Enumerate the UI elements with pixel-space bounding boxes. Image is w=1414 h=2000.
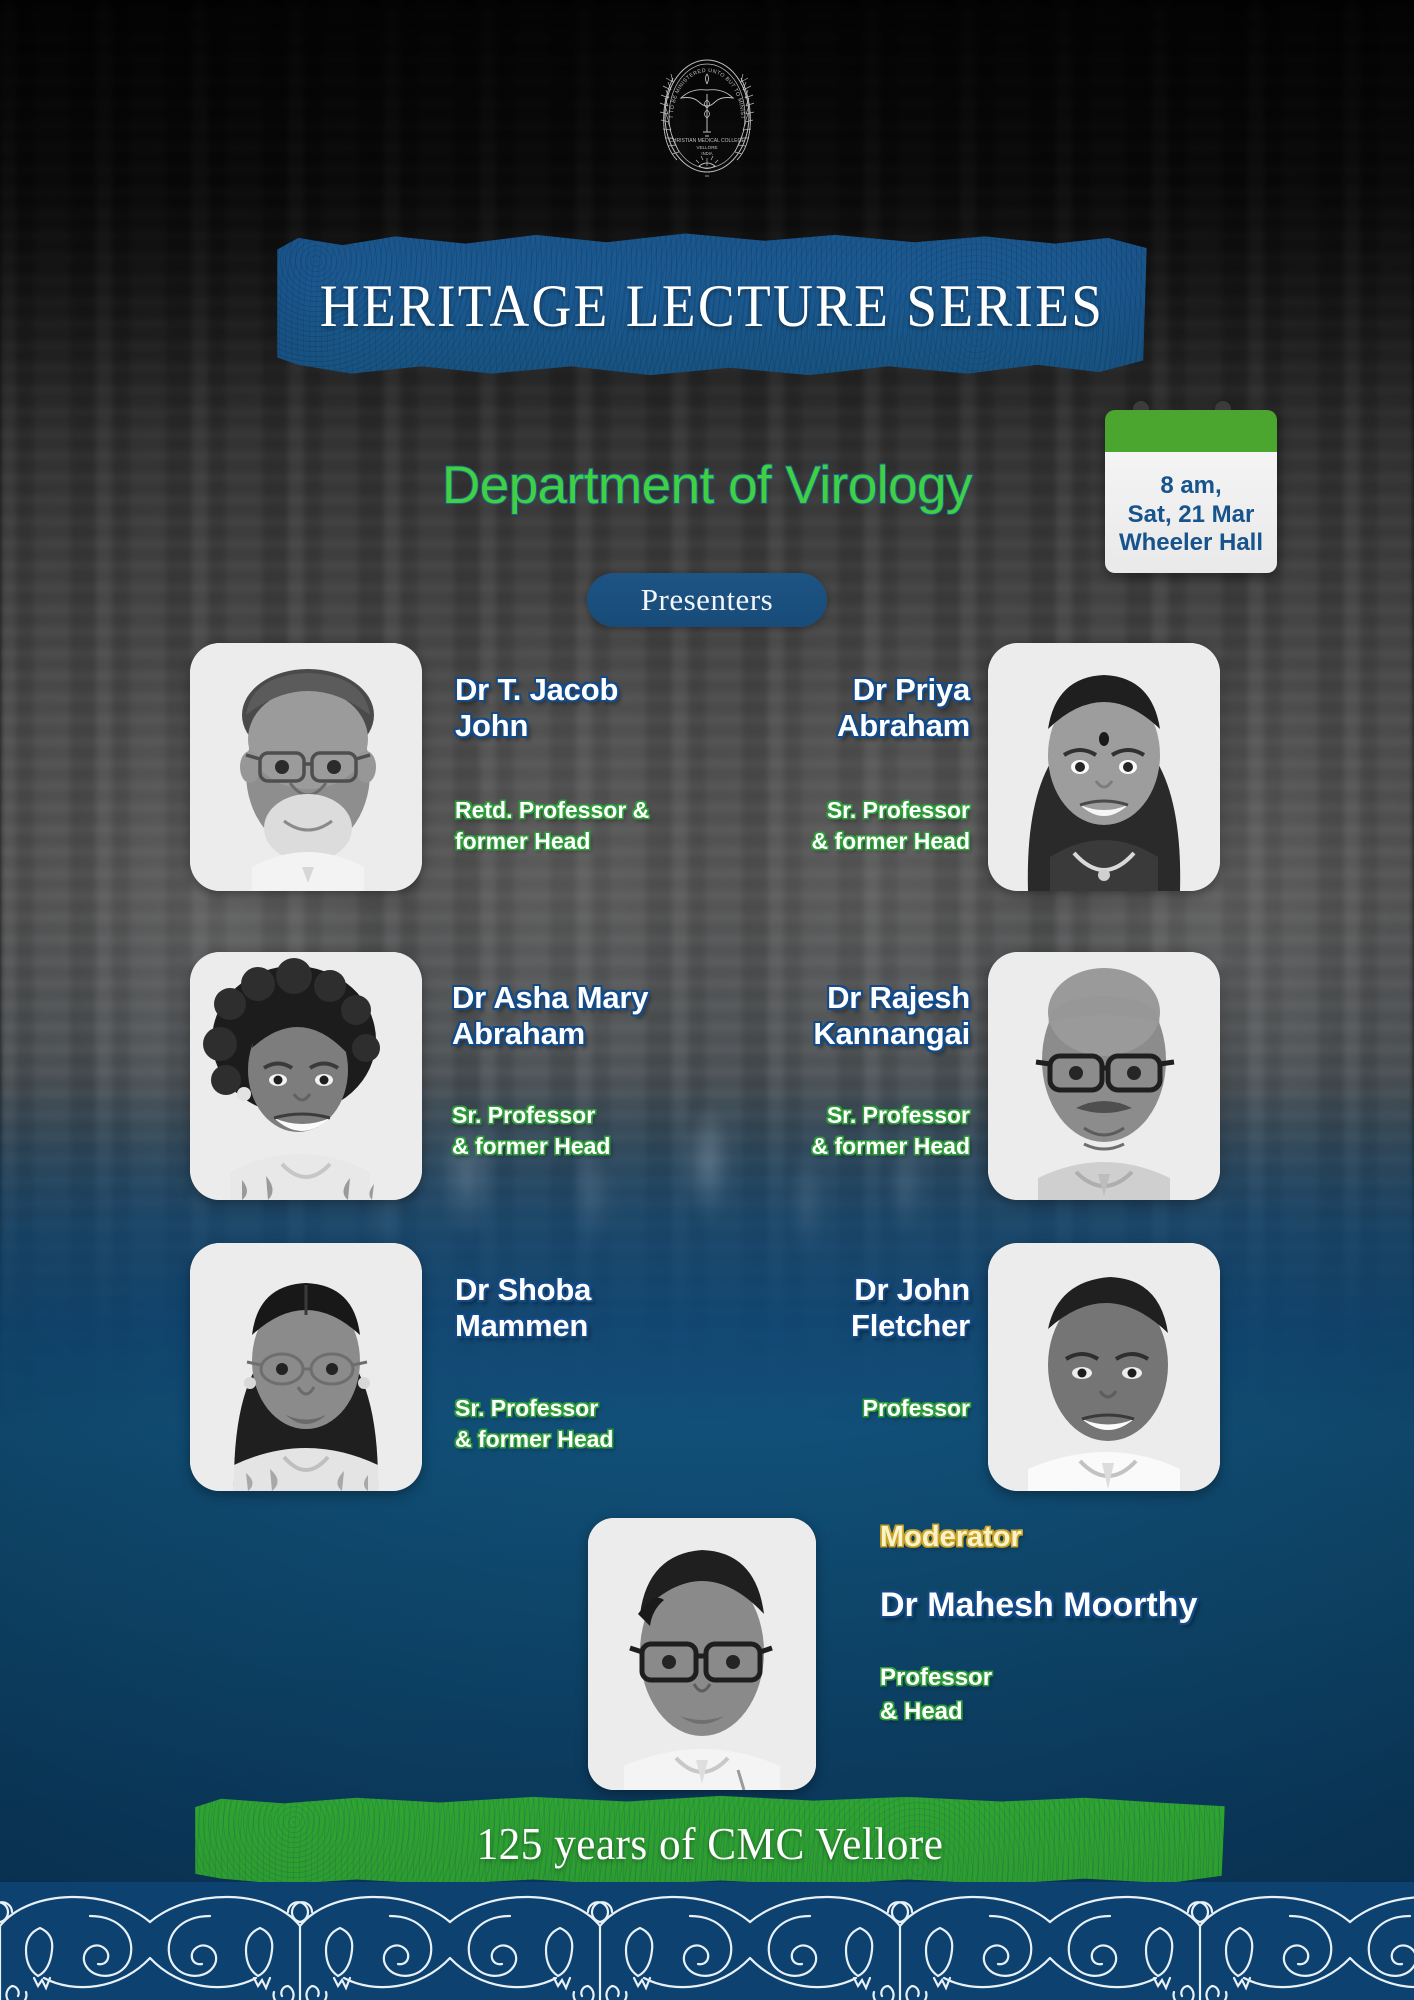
- presenter-name-line2: John: [455, 708, 528, 743]
- event-calendar-badge: 8 am, Sat, 21 Mar Wheeler Hall: [1105, 410, 1277, 573]
- presenter-name-3: Dr Rajesh Kannangai: [690, 980, 970, 1051]
- presenter-name-4: Dr Shoba Mammen: [455, 1272, 591, 1343]
- event-time: 8 am,: [1160, 473, 1221, 499]
- decorative-filigree-border: [0, 1882, 1414, 2000]
- presenter-name-2: Dr Asha Mary Abraham: [452, 980, 648, 1051]
- presenter-name-line1: Dr Rajesh: [827, 980, 970, 1015]
- presenter-role-4: Sr. Professor & former Head: [455, 1393, 613, 1455]
- moderator-name: Dr Mahesh Moorthy: [880, 1586, 1197, 1625]
- presenter-role-0: Retd. Professor & former Head: [455, 795, 649, 857]
- presenter-name-0: Dr T. Jacob John: [455, 672, 618, 743]
- presenter-role-line2: & former Head: [452, 1133, 610, 1159]
- presenter-role-1: Sr. Professor & former Head: [690, 795, 970, 857]
- portrait-mahesh-moorthy: [588, 1518, 816, 1790]
- calendar-header-icon: [1105, 410, 1277, 452]
- presenter-photo-5: [988, 1243, 1220, 1491]
- cmc-vellore-crest-icon: NOT TO BE MINISTERED UNTO BUT TO MINISTE…: [647, 48, 767, 188]
- presenter-photo-0: [190, 643, 422, 891]
- presenter-role-line2: & former Head: [812, 828, 970, 854]
- presenter-name-line2: Abraham: [452, 1016, 585, 1051]
- presenter-name-line2: Kannangai: [813, 1016, 970, 1051]
- presenter-role-5: Professor: [690, 1393, 970, 1424]
- presenter-role-line2: & former Head: [812, 1133, 970, 1159]
- presenter-photo-4: [190, 1243, 422, 1491]
- moderator-role-line2: & Head: [880, 1698, 963, 1725]
- moderator-label: Moderator: [880, 1521, 1022, 1554]
- presenter-photo-1: [988, 643, 1220, 891]
- portrait-john-fletcher: [988, 1243, 1220, 1491]
- crest-city: VELLORE: [696, 145, 717, 150]
- moderator-role: Professor & Head: [880, 1661, 992, 1728]
- poster-root: NOT TO BE MINISTERED UNTO BUT TO MINISTE…: [0, 0, 1414, 2000]
- presenter-role-line1: Retd. Professor &: [455, 797, 649, 823]
- presenter-name-line1: Dr John: [854, 1272, 970, 1307]
- crest-country: INDIA: [701, 151, 712, 156]
- presenter-name-line1: Dr T. Jacob: [455, 672, 618, 707]
- poster-title: HERITAGE LECTURE SERIES: [307, 236, 1117, 376]
- presenter-name-5: Dr John Fletcher: [690, 1272, 970, 1343]
- presenter-name-line2: Abraham: [837, 708, 970, 743]
- crest-motto-text: NOT TO BE MINISTERED UNTO BUT TO MINISTE…: [647, 48, 745, 119]
- presenter-name-line1: Dr Shoba: [455, 1272, 591, 1307]
- presenter-role-line2: former Head: [455, 828, 590, 854]
- portrait-t-jacob-john: [190, 643, 422, 891]
- moderator-role-line1: Professor: [880, 1664, 992, 1691]
- presenter-role-line1: Sr. Professor: [455, 1395, 598, 1421]
- portrait-asha-mary-abraham: [190, 952, 422, 1200]
- portrait-rajesh-kannangai: [988, 952, 1220, 1200]
- filigree-scrollwork-icon: [0, 1882, 1414, 2000]
- event-venue: Wheeler Hall: [1119, 530, 1263, 556]
- presenter-photo-2: [190, 952, 422, 1200]
- presenter-role-3: Sr. Professor & former Head: [690, 1100, 970, 1162]
- presenter-role-line1: Sr. Professor: [827, 797, 970, 823]
- presenters-label-pill: Presenters: [587, 573, 827, 627]
- presenter-role-line1: Professor: [863, 1395, 970, 1421]
- footer-tagline: 125 years of CMC Vellore: [221, 1800, 1199, 1886]
- moderator-photo: [588, 1518, 816, 1790]
- presenter-name-1: Dr Priya Abraham: [690, 672, 970, 743]
- presenter-name-line2: Mammen: [455, 1308, 588, 1343]
- presenter-role-2: Sr. Professor & former Head: [452, 1100, 610, 1162]
- presenter-name-line1: Dr Asha Mary: [452, 980, 648, 1015]
- event-date: Sat, 21 Mar: [1128, 502, 1255, 528]
- presenter-photo-3: [988, 952, 1220, 1200]
- crest-college-name: CHRISTIAN MEDICAL COLLEGE: [669, 138, 745, 144]
- presenter-role-line1: Sr. Professor: [452, 1102, 595, 1128]
- presenter-role-line2: & former Head: [455, 1426, 613, 1452]
- presenter-role-line1: Sr. Professor: [827, 1102, 970, 1128]
- portrait-priya-abraham: [988, 643, 1220, 891]
- presenter-name-line1: Dr Priya: [853, 672, 970, 707]
- svg-text:NOT TO BE MINISTERED UNTO BUT: NOT TO BE MINISTERED UNTO BUT TO MINISTE…: [647, 48, 745, 119]
- presenter-name-line2: Fletcher: [851, 1308, 970, 1343]
- portrait-shoba-mammen: [190, 1243, 422, 1491]
- calendar-body: 8 am, Sat, 21 Mar Wheeler Hall: [1105, 452, 1277, 573]
